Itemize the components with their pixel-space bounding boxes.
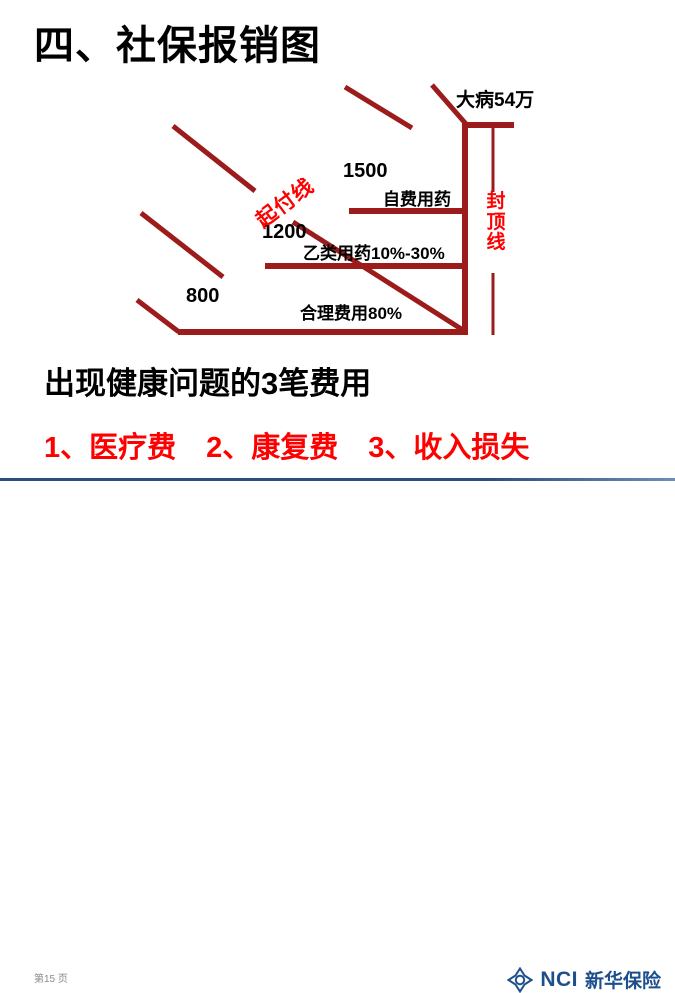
label-tier1-name: 合理费用80% xyxy=(300,305,402,322)
diagonal-deductible-upper xyxy=(173,126,255,191)
brand-logo: NCI 新华保险 xyxy=(507,966,661,993)
compass-diamond-icon xyxy=(507,967,533,993)
diagonal-tier1-short xyxy=(137,300,179,332)
social-insurance-reimbursement-diagram: 大病54万 1500 自费用药 1200 乙类用药10%-30% 800 合理费… xyxy=(0,60,675,360)
footer: 第15 页 NCI 新华保险 xyxy=(0,481,675,516)
subheading: 出现健康问题的3笔费用 xyxy=(44,358,371,403)
page-number: 第15 页 xyxy=(34,970,68,985)
label-tier2-name: 乙类用药10%-30% xyxy=(303,245,445,262)
cost-list: 1、医疗费 2、康复费 3、收入损失 xyxy=(44,424,529,466)
cost-item-3: 3、收入损失 xyxy=(368,424,529,466)
label-major-illness: 大病54万 xyxy=(456,91,534,110)
label-tier1-amount: 800 xyxy=(186,286,219,306)
brand-name-cn: 新华保险 xyxy=(585,966,661,993)
cost-item-1: 1、医疗费 xyxy=(44,424,176,466)
cost-item-2: 2、康复费 xyxy=(206,424,338,466)
slide-canvas: 四、社保报销图 xyxy=(0,0,675,516)
label-ceiling-line: 封顶线 xyxy=(484,192,508,254)
diagonal-tier1-long xyxy=(141,213,223,277)
brand-name-en: NCI xyxy=(540,968,578,992)
diagonal-upper-middle xyxy=(345,87,412,128)
label-tier3-amount: 1500 xyxy=(343,161,388,181)
label-tier3-name: 自费用药 xyxy=(383,191,451,208)
